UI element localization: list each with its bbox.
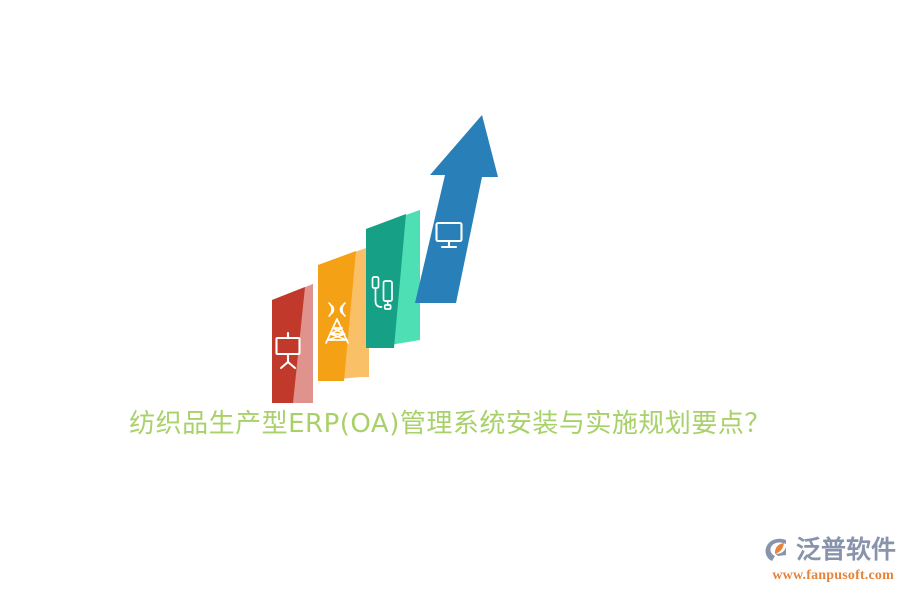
brand-logo[interactable]: 泛普软件 www.fanpusoft.com [762, 534, 894, 590]
brand-name: 泛普软件 [796, 535, 896, 565]
chart-step-red [272, 284, 313, 403]
chart-step-blue-arrow-shape [415, 115, 498, 303]
page-title: 纺织品生产型ERP(OA)管理系统安装与实施规划要点？ [0, 406, 900, 442]
chart-step-teal [366, 210, 420, 348]
brand-url[interactable]: www.fanpusoft.com [762, 567, 894, 585]
fanpu-c-swoosh-icon [762, 535, 792, 565]
brand-logo-row: 泛普软件 [762, 534, 894, 566]
banner-page: 纺织品生产型ERP(OA)管理系统安装与实施规划要点？ 泛普软件 www.fan… [0, 0, 900, 600]
growth-arrow-chart [250, 105, 520, 405]
chart-step-orange [318, 247, 369, 381]
chart-step-blue-arrow [415, 115, 498, 303]
